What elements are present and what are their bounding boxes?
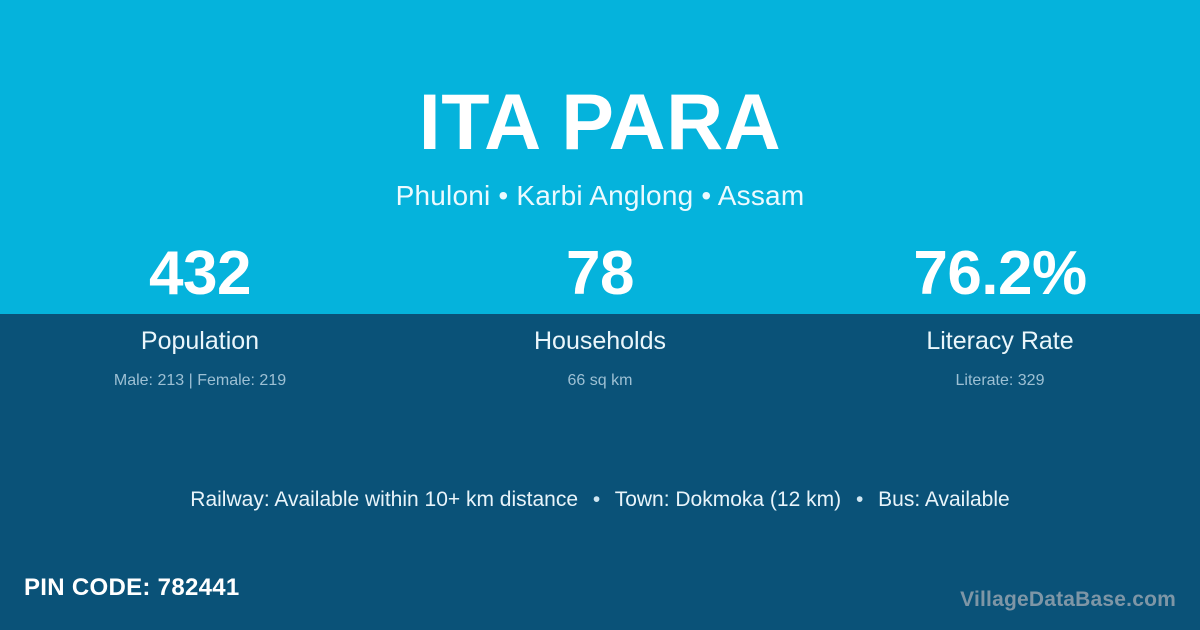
info-separator-dot-2: • — [847, 487, 872, 513]
stat-label-households: Households — [400, 329, 800, 354]
info-separator-dot-1: • — [584, 487, 609, 513]
pin-code: PIN CODE: 782441 — [24, 576, 240, 600]
stat-label-population: Population — [0, 329, 400, 354]
stat-literacy-rate: 76.2% Literacy Rate Literate: 329 — [800, 243, 1200, 389]
breadcrumb: Phuloni • Karbi Anglong • Assam — [0, 161, 1200, 210]
info-town: Town: Dokmoka (12 km) — [615, 488, 841, 511]
page-title: ITA PARA — [0, 0, 1200, 161]
site-brand: VillageDataBase.com — [960, 589, 1176, 610]
stat-value-households: 78 — [400, 243, 800, 305]
stat-population: 432 Population Male: 213 | Female: 219 — [0, 243, 400, 389]
stat-value-population: 432 — [0, 243, 400, 305]
info-railway: Railway: Available within 10+ km distanc… — [190, 488, 578, 511]
info-bus: Bus: Available — [878, 488, 1010, 511]
stat-sub-households: 66 sq km — [400, 373, 800, 389]
stat-sub-literacy-rate: Literate: 329 — [800, 373, 1200, 389]
connectivity-info-line: Railway: Available within 10+ km distanc… — [0, 487, 1200, 513]
stat-label-literacy-rate: Literacy Rate — [800, 329, 1200, 354]
stat-value-literacy-rate: 76.2% — [800, 243, 1200, 305]
stat-sub-population: Male: 213 | Female: 219 — [0, 373, 400, 389]
stat-households: 78 Households 66 sq km — [400, 243, 800, 389]
card-header: ITA PARA Phuloni • Karbi Anglong • Assam — [0, 0, 1200, 210]
village-info-card: ITA PARA Phuloni • Karbi Anglong • Assam… — [0, 0, 1200, 630]
stats-row: 432 Population Male: 213 | Female: 219 7… — [0, 243, 1200, 389]
